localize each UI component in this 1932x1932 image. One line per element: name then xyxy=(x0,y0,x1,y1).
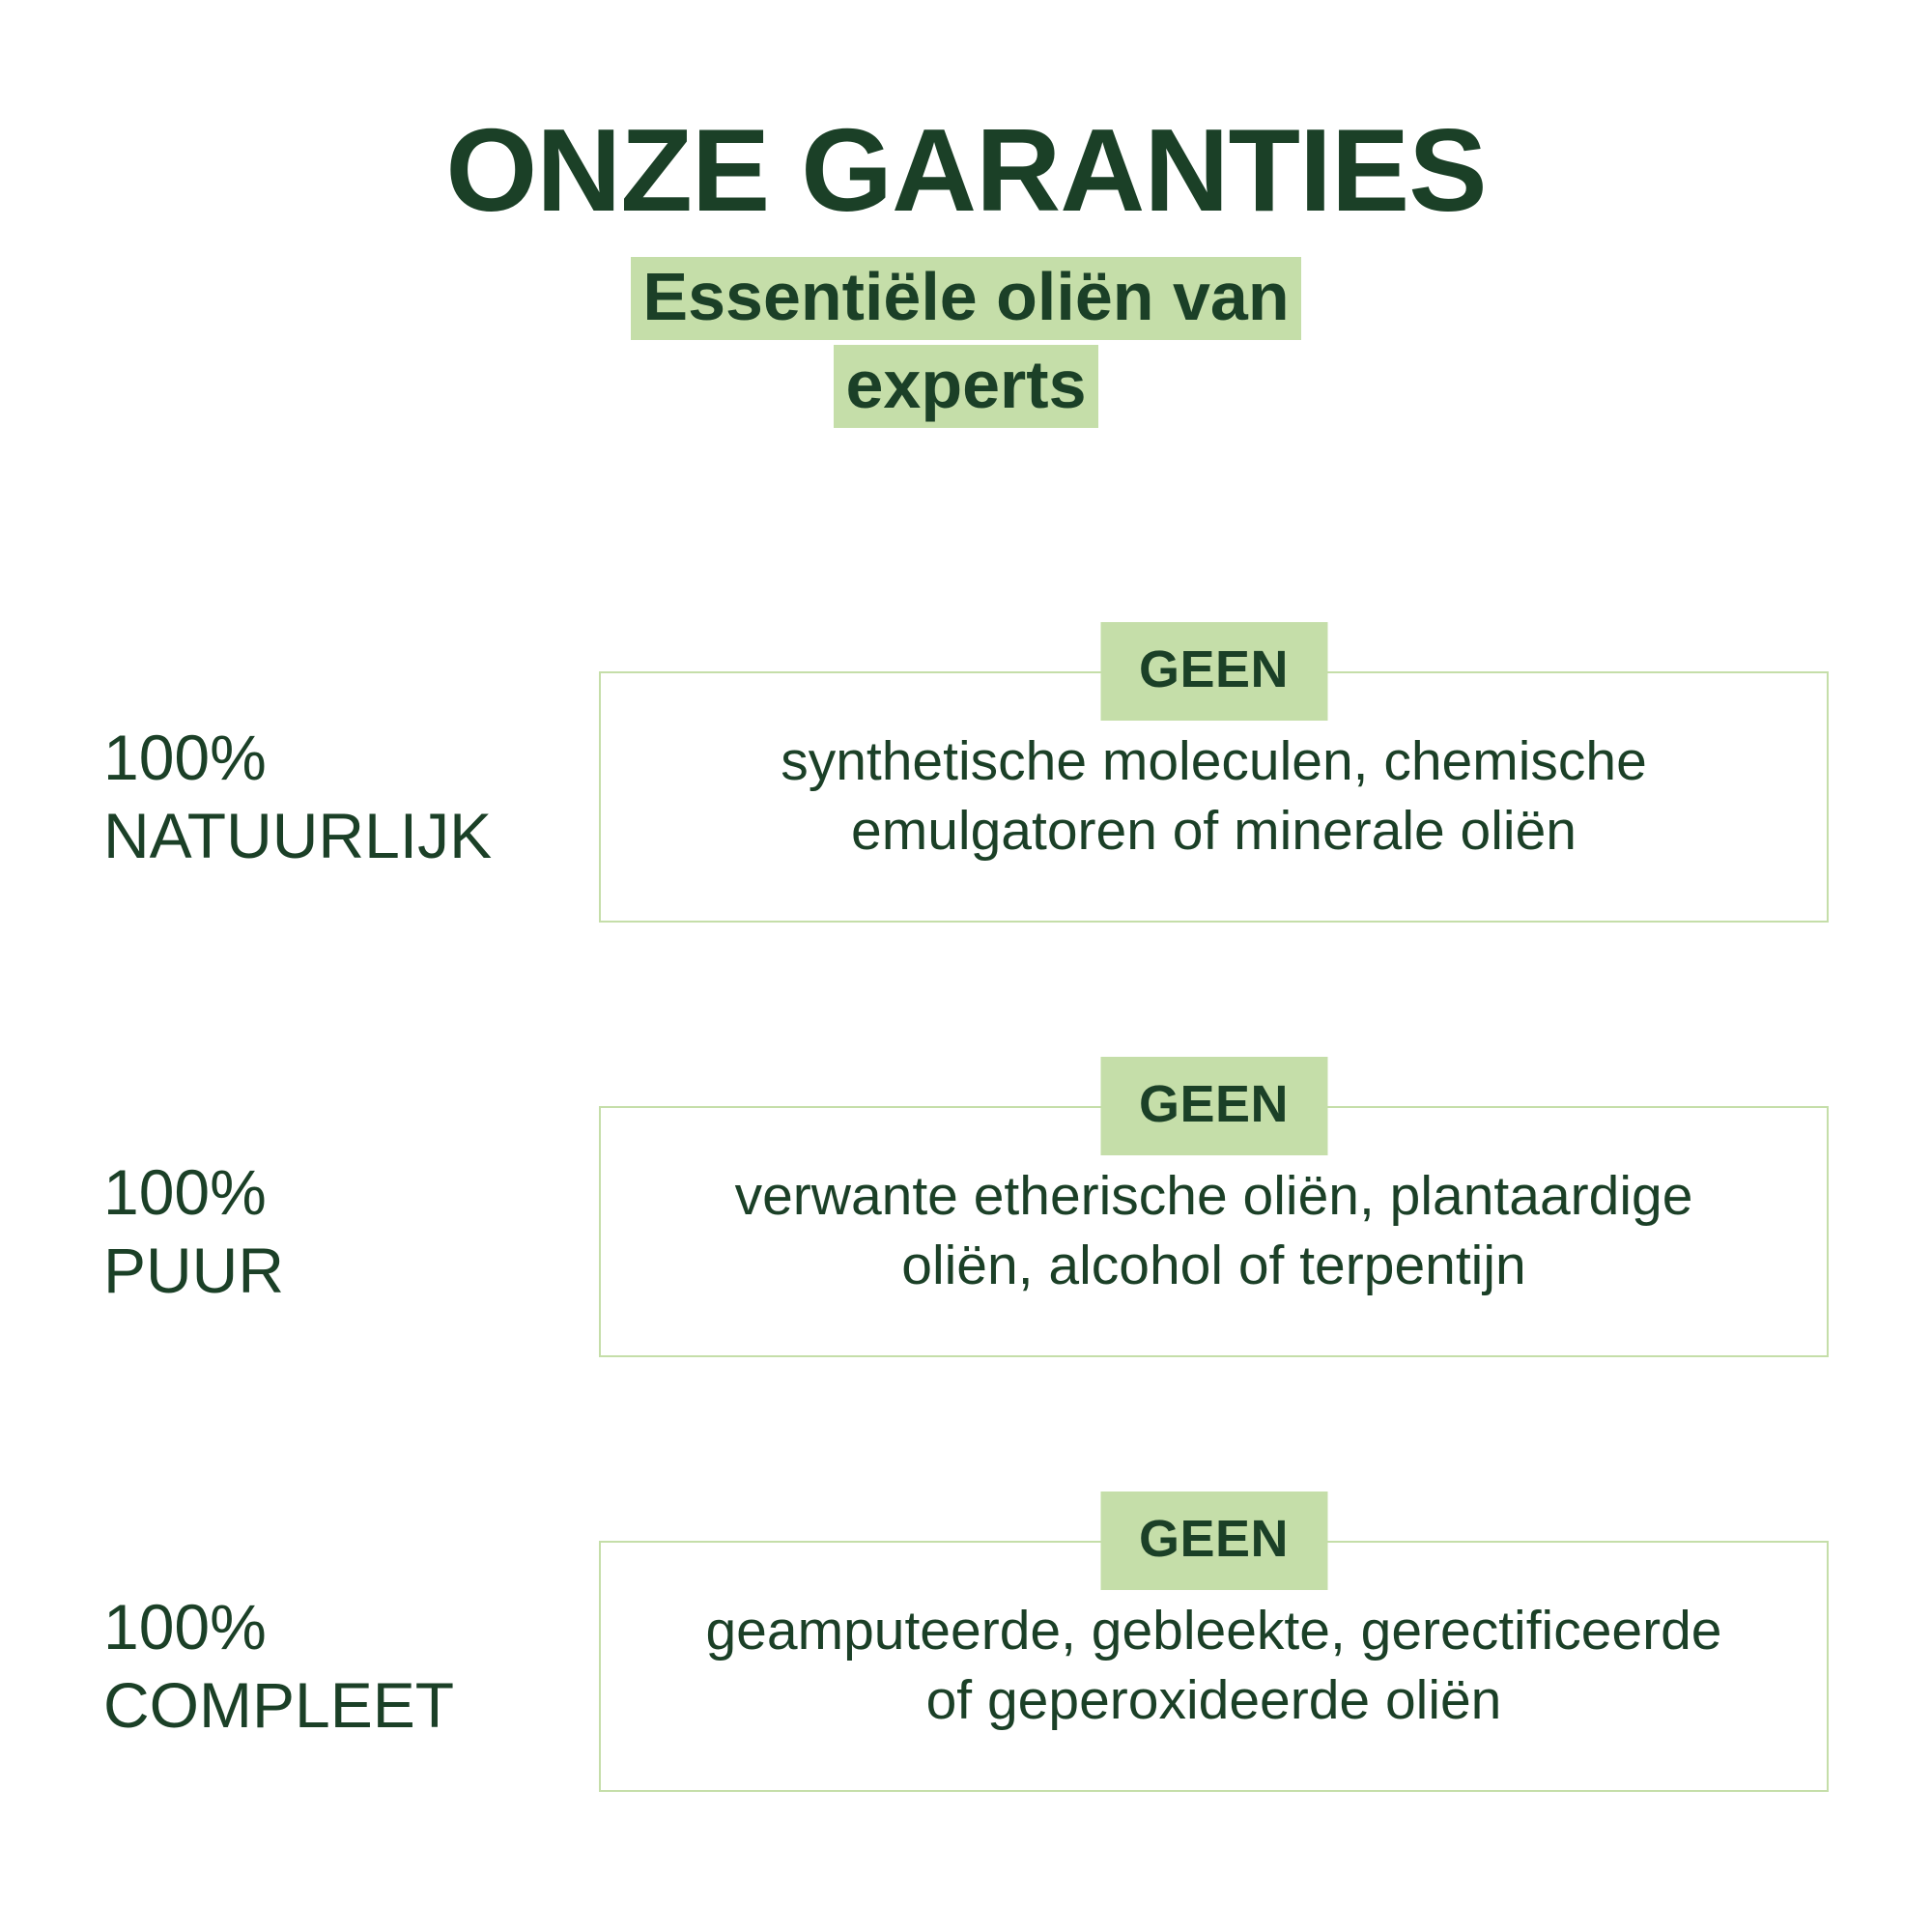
guarantee-label: 100% NATUURLIJK xyxy=(0,719,599,874)
guarantee-box-wrapper: geamputeerde, gebleekte, gerectificeerde… xyxy=(599,1541,1829,1792)
guarantee-excluded-text: geamputeerde, gebleekte, gerectificeerde… xyxy=(677,1597,1751,1736)
guarantee-row: 100% PUUR verwante etherische oliën, pla… xyxy=(0,1014,1932,1449)
guarantee-label: 100% COMPLEET xyxy=(0,1588,599,1744)
geen-badge: GEEN xyxy=(1100,1057,1327,1155)
header: ONZE GARANTIES Essentiële oliën van expe… xyxy=(0,0,1932,429)
guarantee-kind: NATUURLIJK xyxy=(103,797,599,875)
guarantee-label: 100% PUUR xyxy=(0,1153,599,1309)
guarantee-percent: 100% xyxy=(103,719,599,797)
guarantee-row: 100% NATUURLIJK synthetische moleculen, … xyxy=(0,580,1932,1014)
guarantee-percent: 100% xyxy=(103,1153,599,1232)
page-subtitle: Essentiële oliën van experts xyxy=(406,253,1526,429)
guarantee-box-wrapper: synthetische moleculen, chemische emulga… xyxy=(599,671,1829,923)
guarantee-row: 100% COMPLEET geamputeerde, gebleekte, g… xyxy=(0,1449,1932,1884)
geen-badge: GEEN xyxy=(1100,622,1327,721)
guarantee-box-wrapper: verwante etherische oliën, plantaardige … xyxy=(599,1106,1829,1357)
guarantee-excluded-text: synthetische moleculen, chemische emulga… xyxy=(677,727,1751,867)
guarantee-kind: PUUR xyxy=(103,1232,599,1310)
subtitle-line-1: Essentiële oliën van xyxy=(631,257,1300,340)
guarantee-excluded-text: verwante etherische oliën, plantaardige … xyxy=(677,1162,1751,1301)
guarantee-percent: 100% xyxy=(103,1588,599,1666)
geen-badge: GEEN xyxy=(1100,1492,1327,1590)
guarantee-list: 100% NATUURLIJK synthetische moleculen, … xyxy=(0,580,1932,1884)
page-title: ONZE GARANTIES xyxy=(0,0,1932,232)
guarantees-infographic: ONZE GARANTIES Essentiële oliën van expe… xyxy=(0,0,1932,1932)
subtitle-line-2: experts xyxy=(834,345,1097,428)
guarantee-kind: COMPLEET xyxy=(103,1666,599,1745)
